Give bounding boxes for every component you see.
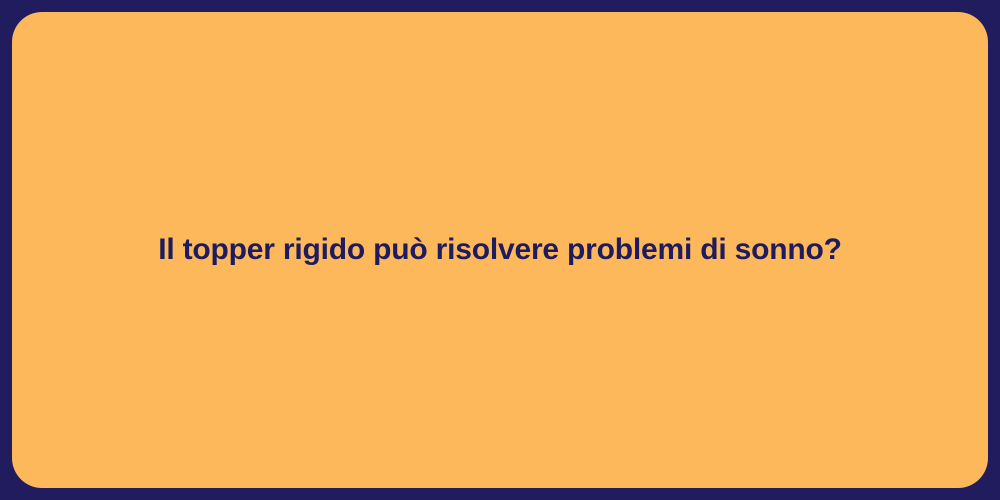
question-card-frame: Il topper rigido può risolvere problemi … [0, 0, 1000, 500]
question-headline: Il topper rigido può risolvere problemi … [158, 231, 842, 269]
question-card-panel: Il topper rigido può risolvere problemi … [12, 12, 988, 488]
